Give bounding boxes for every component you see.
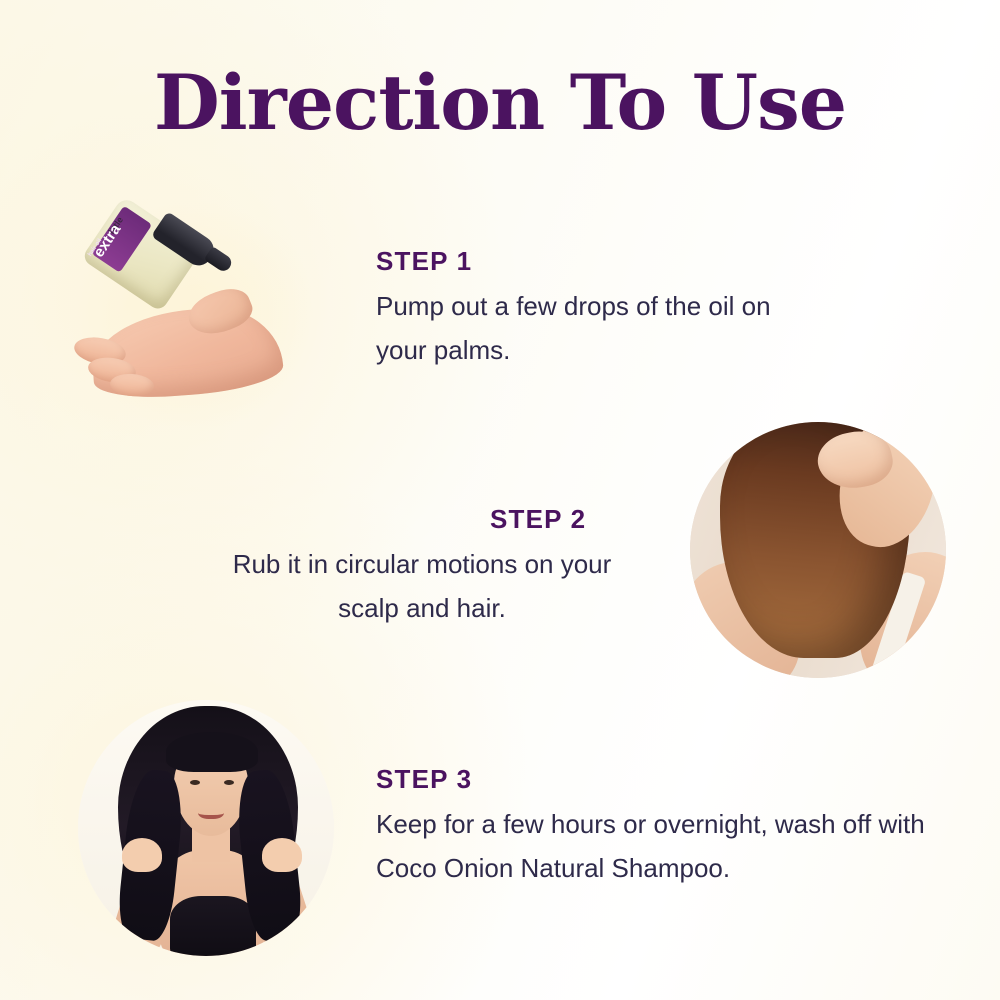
step-1-image: little extra hair oil bbox=[70, 200, 320, 430]
hand-left bbox=[122, 838, 162, 872]
hand-right bbox=[262, 838, 302, 872]
step-3-body: Keep for a few hours or overnight, wash … bbox=[376, 802, 936, 890]
step-3-image bbox=[78, 700, 334, 956]
eye-right bbox=[224, 780, 234, 785]
step-3-heading: STEP 3 bbox=[376, 764, 472, 795]
black-top bbox=[170, 896, 256, 956]
hair-fringe bbox=[166, 732, 258, 772]
page-title: Direction To Use bbox=[0, 58, 1000, 147]
step-1-body: Pump out a few drops of the oil on your … bbox=[376, 284, 796, 372]
step-2-image bbox=[690, 422, 946, 678]
step-2-body: Rub it in circular motions on your scalp… bbox=[222, 542, 622, 630]
step-1-heading: STEP 1 bbox=[376, 246, 472, 277]
step-2-heading: STEP 2 bbox=[490, 504, 586, 535]
eye-left bbox=[190, 780, 200, 785]
direction-to-use-infographic: Direction To Use little extra hair oil S… bbox=[0, 0, 1000, 1000]
smile-shape bbox=[198, 804, 224, 819]
